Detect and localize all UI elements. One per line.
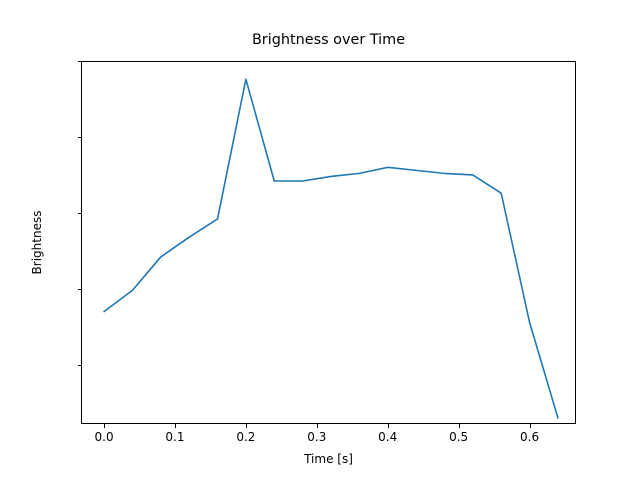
x-tick-mark xyxy=(246,424,247,428)
x-axis-label: Time [s] xyxy=(81,452,576,466)
y-tick-mark xyxy=(78,289,82,290)
x-tick-mark xyxy=(459,424,460,428)
chart-title: Brightness over Time xyxy=(81,33,576,49)
y-tick-mark xyxy=(78,137,82,138)
x-tick-mark xyxy=(175,424,176,428)
x-tick-label: 0.4 xyxy=(358,430,418,444)
y-axis-label: Brightness xyxy=(26,61,48,424)
y-tick-mark xyxy=(78,365,82,366)
x-tick-mark xyxy=(104,424,105,428)
x-tick-mark xyxy=(530,424,531,428)
x-tick-label: 0.6 xyxy=(500,430,560,444)
x-tick-label: 0.3 xyxy=(287,430,347,444)
matplotlib-figure: Brightness over Time Brightness Time [s]… xyxy=(0,0,640,480)
y-tick-mark xyxy=(78,61,82,62)
plot-axes-frame xyxy=(81,61,576,424)
x-tick-label: 0.1 xyxy=(145,430,205,444)
x-tick-label: 0.0 xyxy=(74,430,134,444)
x-tick-label: 0.2 xyxy=(216,430,276,444)
x-tick-mark xyxy=(317,424,318,428)
y-tick-mark xyxy=(78,213,82,214)
x-tick-label: 0.5 xyxy=(429,430,489,444)
x-tick-mark xyxy=(388,424,389,428)
